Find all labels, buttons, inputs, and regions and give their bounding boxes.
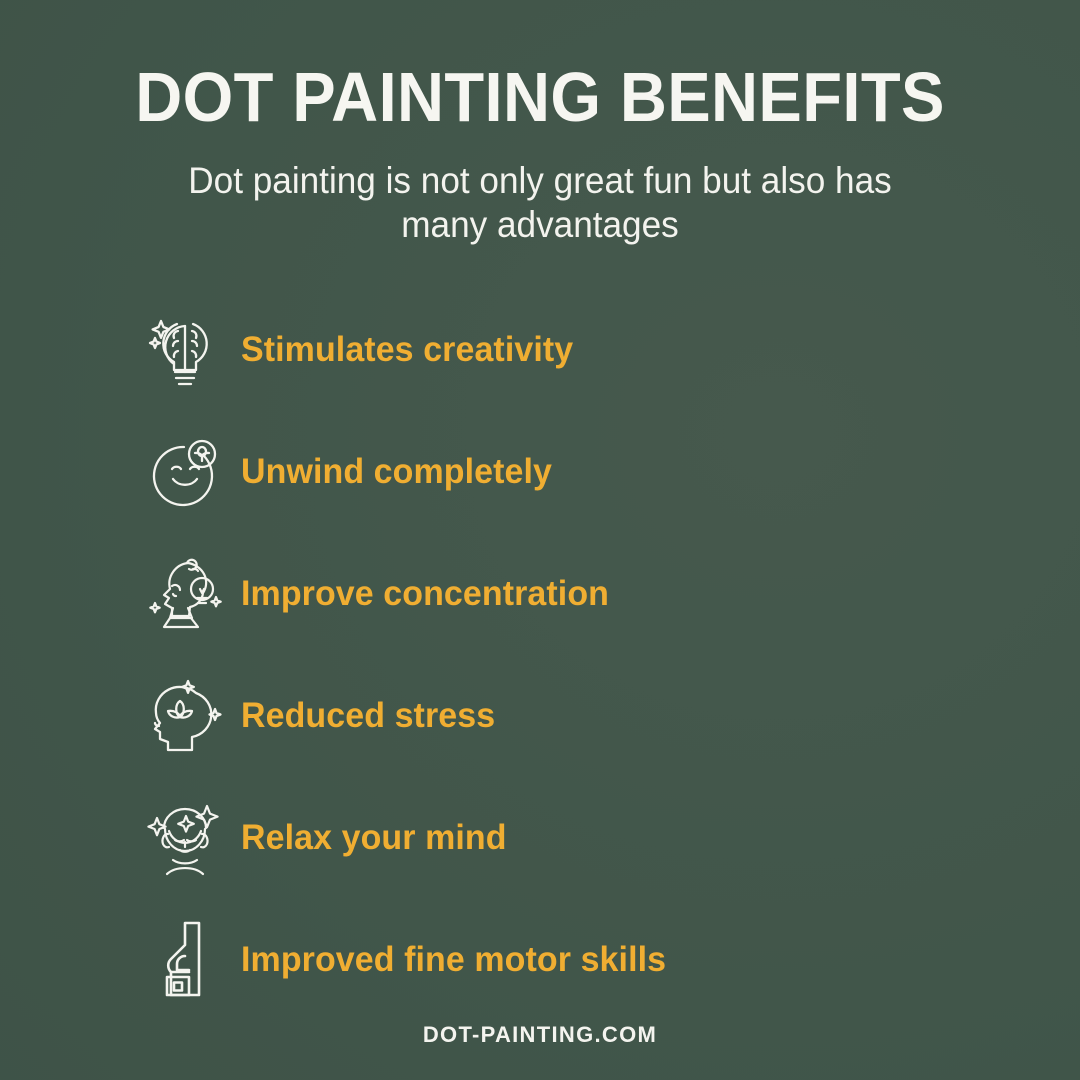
- lightbulb-brain-icon: [137, 307, 233, 391]
- list-item: Stimulates creativity: [137, 288, 967, 410]
- head-lotus-icon: [137, 673, 233, 757]
- head-lightbulb-icon: [137, 551, 233, 635]
- benefit-label: Relax your mind: [241, 820, 507, 855]
- list-item: Relax your mind: [137, 776, 967, 898]
- benefit-label: Stimulates creativity: [241, 332, 573, 367]
- benefits-list: Stimulates creativity Unwind completely: [137, 288, 967, 1020]
- list-item: Improved fine motor skills: [137, 898, 967, 1020]
- page-title: DOT PAINTING BENEFITS: [38, 62, 1042, 132]
- benefit-label: Improved fine motor skills: [241, 942, 666, 977]
- footer-website[interactable]: DOT-PAINTING.COM: [0, 1022, 1080, 1048]
- benefit-label: Unwind completely: [241, 454, 552, 489]
- smiley-flower-icon: [137, 429, 233, 513]
- benefit-label: Improve concentration: [241, 576, 609, 611]
- list-item: Unwind completely: [137, 410, 967, 532]
- meditating-face-icon: [137, 795, 233, 879]
- infographic-poster: DOT PAINTING BENEFITS Dot painting is no…: [0, 0, 1080, 1080]
- list-item: Reduced stress: [137, 654, 967, 776]
- page-subtitle: Dot painting is not only great fun but a…: [165, 159, 916, 246]
- benefit-label: Reduced stress: [241, 698, 495, 733]
- hand-holding-square-icon: [137, 917, 233, 1001]
- header: DOT PAINTING BENEFITS Dot painting is no…: [0, 0, 1080, 246]
- list-item: Improve concentration: [137, 532, 967, 654]
